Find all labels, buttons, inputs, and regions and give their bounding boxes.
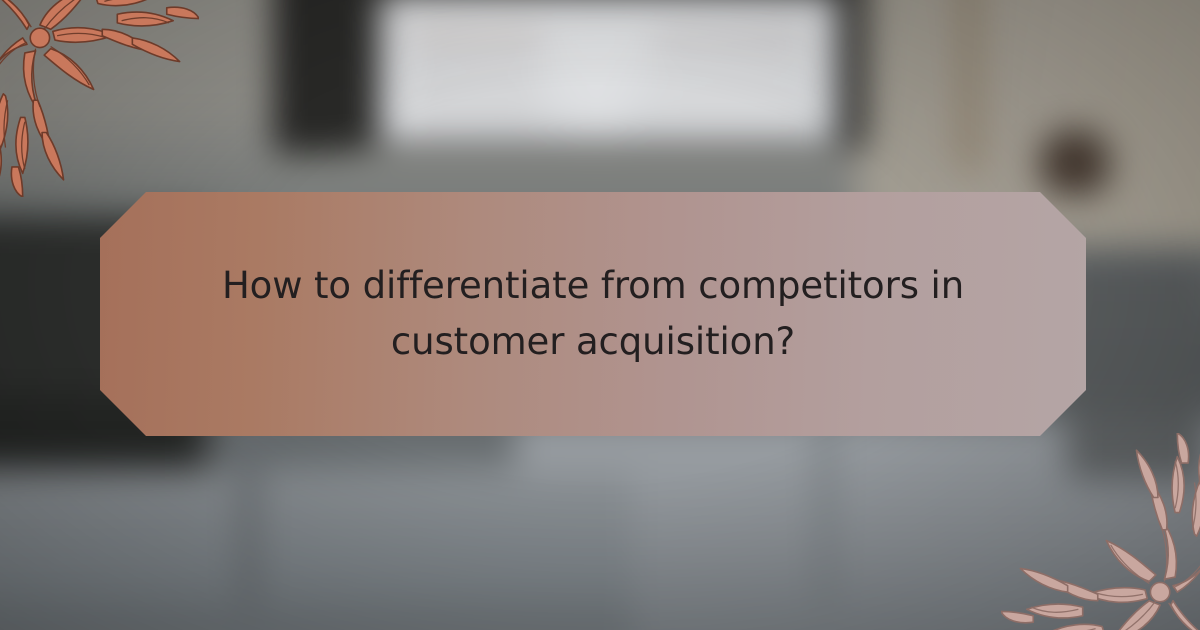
headline-banner: How to differentiate from competitors in… [100,192,1086,436]
floral-corner-ornament-top-left [0,0,199,197]
floral-corner-ornament-bottom-right [1001,433,1200,630]
screenshot-canvas: How to differentiate from competitors in… [0,0,1200,630]
headline-text: How to differentiate from competitors in… [213,258,973,370]
